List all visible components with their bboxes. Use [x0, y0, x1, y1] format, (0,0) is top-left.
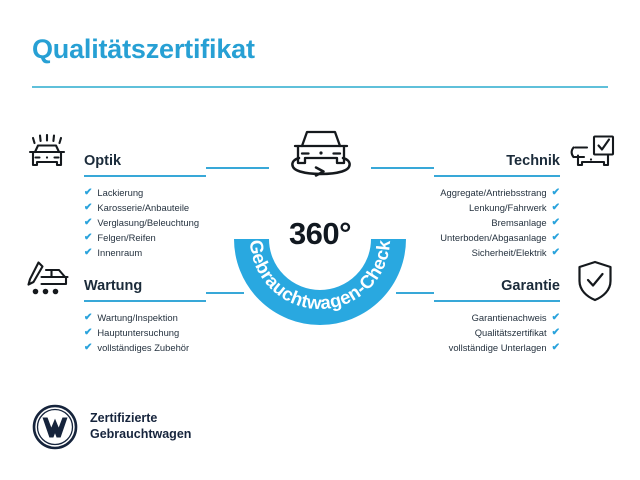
section-garantie: Garantie Garantienachweis ✔ Qualitätszer…	[434, 271, 560, 355]
footer-line-2: Gebrauchtwagen	[90, 427, 191, 443]
footer-text: Zertifizierte Gebrauchtwagen	[90, 411, 191, 442]
list-item-label: Garantienachweis	[472, 313, 547, 322]
list-item: Sicherheit/Elektrik ✔	[434, 245, 560, 260]
section-optik-title: Optik	[84, 154, 121, 169]
section-optik-items: ✔ Lackierung ✔ Karosserie/Anbauteile ✔ V…	[84, 185, 206, 260]
check-icon: ✔	[84, 218, 92, 228]
section-garantie-header: Garantie	[434, 271, 560, 293]
list-item: Qualitätszertifikat ✔	[434, 325, 560, 340]
list-item-label: Sicherheit/Elektrik	[472, 248, 547, 257]
list-item-label: Bremsanlage	[491, 218, 546, 227]
list-item-label: Wartung/Inspektion	[97, 313, 177, 322]
section-technik-divider	[434, 175, 560, 177]
list-item: Garantienachweis ✔	[434, 310, 560, 325]
check-icon: ✔	[552, 233, 560, 243]
list-item-label: Aggregate/Antriebsstrang	[440, 188, 546, 197]
check-icon: ✔	[552, 203, 560, 213]
car-front-rotate-icon	[283, 120, 359, 182]
car-polish-icon	[24, 134, 70, 174]
list-item-label: Lenkung/Fahrwerk	[469, 203, 547, 212]
section-wartung-divider	[84, 300, 206, 302]
section-technik-title: Technik	[506, 154, 560, 169]
check-icon: ✔	[552, 313, 560, 323]
section-technik-items: Aggregate/Antriebsstrang ✔ Lenkung/Fahrw…	[434, 185, 560, 260]
footer-brand-lockup: Zertifizierte Gebrauchtwagen	[32, 404, 191, 450]
section-optik-header: Optik	[84, 146, 206, 168]
list-item-label: Karosserie/Anbauteile	[97, 203, 189, 212]
check-icon: ✔	[84, 233, 92, 243]
list-item-label: Lackierung	[97, 188, 143, 197]
list-item: ✔ Wartung/Inspektion	[84, 310, 206, 325]
list-item: ✔ Hauptuntersuchung	[84, 325, 206, 340]
list-item: ✔ Felgen/Reifen	[84, 230, 206, 245]
check-icon: ✔	[84, 248, 92, 258]
section-garantie-items: Garantienachweis ✔ Qualitätszertifikat ✔…	[434, 310, 560, 355]
list-item: Lenkung/Fahrwerk ✔	[434, 200, 560, 215]
check-icon: ✔	[552, 248, 560, 258]
check-icon: ✔	[84, 188, 92, 198]
list-item-label: Qualitätszertifikat	[475, 328, 547, 337]
section-optik: Optik ✔ Lackierung ✔ Karosserie/Anbautei…	[84, 146, 206, 260]
badge-value: 360°	[231, 216, 409, 252]
list-item: ✔ vollständiges Zubehör	[84, 340, 206, 355]
list-item-label: Verglasung/Beleuchtung	[97, 218, 199, 227]
list-item: ✔ Karosserie/Anbauteile	[84, 200, 206, 215]
list-item: vollständige Unterlagen ✔	[434, 340, 560, 355]
check-icon: ✔	[84, 313, 92, 323]
vw-logo	[32, 404, 78, 450]
car-checkbox-icon	[570, 134, 616, 174]
list-item: Aggregate/Antriebsstrang ✔	[434, 185, 560, 200]
section-garantie-divider	[434, 300, 560, 302]
footer-line-1: Zertifizierte	[90, 411, 191, 427]
check-icon: ✔	[552, 328, 560, 338]
shield-check-icon	[574, 259, 616, 303]
section-garantie-title: Garantie	[501, 279, 560, 294]
list-item: ✔ Verglasung/Beleuchtung	[84, 215, 206, 230]
list-item-label: Hauptuntersuchung	[97, 328, 179, 337]
list-item-label: Innenraum	[97, 248, 142, 257]
section-optik-divider	[84, 175, 206, 177]
list-item: ✔ Innenraum	[84, 245, 206, 260]
section-wartung-title: Wartung	[84, 279, 142, 294]
section-technik: Technik Aggregate/Antriebsstrang ✔ Lenku…	[434, 146, 560, 260]
check-icon: ✔	[84, 203, 92, 213]
section-technik-header: Technik	[434, 146, 560, 168]
section-wartung-items: ✔ Wartung/Inspektion ✔ Hauptuntersuchung…	[84, 310, 206, 355]
page-title: Qualitätszertifikat	[32, 34, 255, 65]
list-item-label: vollständige Unterlagen	[449, 343, 547, 352]
list-item-label: vollständiges Zubehör	[97, 343, 189, 352]
list-item-label: Unterboden/Abgasanlage	[440, 233, 546, 242]
check-icon: ✔	[84, 343, 92, 353]
check-icon: ✔	[84, 328, 92, 338]
check-icon: ✔	[552, 188, 560, 198]
title-divider	[32, 86, 608, 88]
section-wartung: Wartung ✔ Wartung/Inspektion ✔ Hauptunte…	[84, 271, 206, 355]
pen-car-service-icon	[24, 259, 70, 303]
list-item: Unterboden/Abgasanlage ✔	[434, 230, 560, 245]
section-wartung-header: Wartung	[84, 271, 206, 293]
check-icon: ✔	[552, 218, 560, 228]
list-item: ✔ Lackierung	[84, 185, 206, 200]
list-item: Bremsanlage ✔	[434, 215, 560, 230]
list-item-label: Felgen/Reifen	[97, 233, 155, 242]
check-icon: ✔	[552, 343, 560, 353]
